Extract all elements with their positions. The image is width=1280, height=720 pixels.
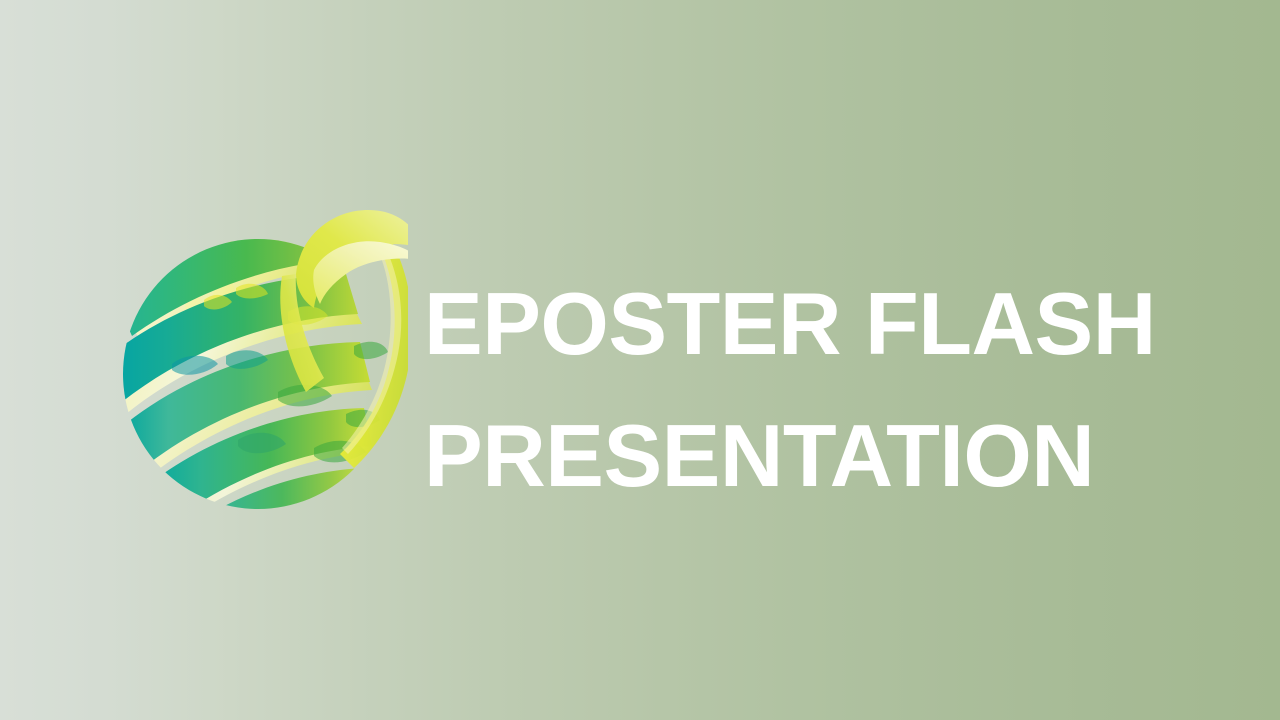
globe-ribbon-leaf-logo xyxy=(118,196,408,516)
title-line-1: EPOSTER FLASH xyxy=(424,258,1184,390)
title-block: EPOSTER FLASH PRESENTATION xyxy=(424,258,1184,522)
title-line-2: PRESENTATION xyxy=(424,390,1184,522)
title-slide: EPOSTER FLASH PRESENTATION xyxy=(0,0,1280,720)
